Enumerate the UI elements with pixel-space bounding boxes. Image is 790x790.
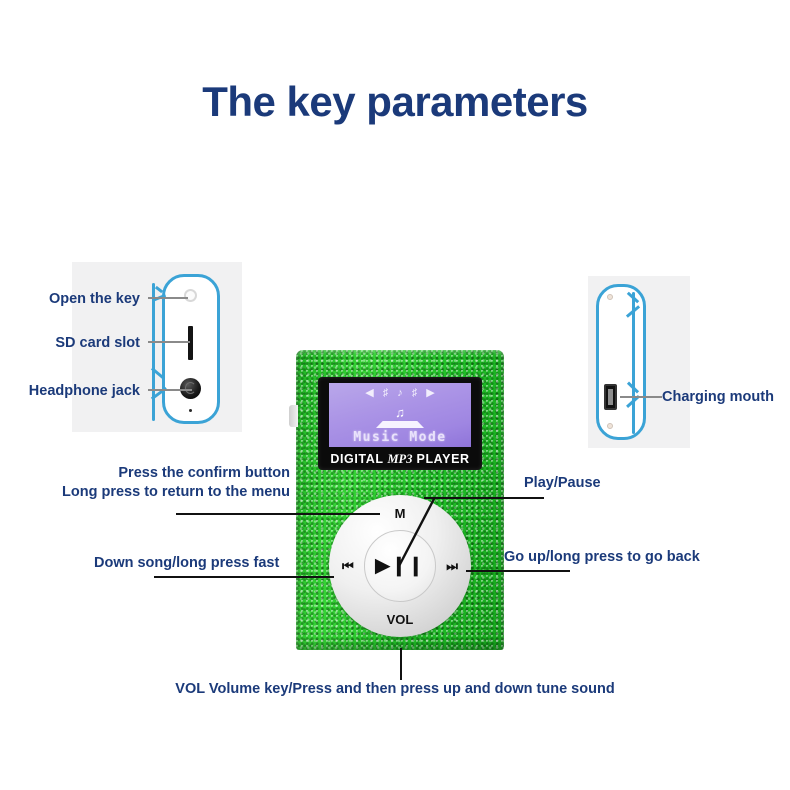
device-brand: DIGITAL MP3 PLAYER	[318, 452, 482, 467]
leader-down-song	[154, 576, 334, 578]
label-go-up: Go up/long press to go back	[504, 548, 700, 567]
brand-suffix: PLAYER	[412, 452, 469, 466]
open-key-hole-icon	[184, 289, 197, 302]
label-confirm-button-line1: Press the confirm button	[40, 464, 290, 483]
music-note-icon-small: ♪	[397, 388, 403, 399]
leader-play-pause-horizontal	[424, 497, 544, 499]
label-volume: VOL Volume key/Press and then press up a…	[0, 680, 790, 699]
prev-triangle-icon: ◀	[365, 388, 373, 399]
bracket-icon-left: ♯	[383, 388, 389, 399]
device-screen: ◀ ♯ ♪ ♯ ▶ ♫ Music Mode	[329, 383, 471, 447]
label-down-song: Down song/long press fast	[94, 554, 279, 573]
bracket-icon-right: ♯	[412, 388, 418, 399]
sketch-dot	[189, 409, 192, 412]
usb-port-icon	[604, 384, 617, 410]
leader-charging-mouth	[620, 396, 662, 398]
infographic-canvas: The key parameters Open the key SD card …	[0, 0, 790, 790]
next-track-button[interactable]: ⏭	[446, 560, 458, 573]
volume-button-label[interactable]: VOL	[387, 613, 414, 626]
screen-bezel: ◀ ♯ ♪ ♯ ▶ ♫ Music Mode DIGITAL MP3 PLAYE…	[318, 377, 482, 470]
leader-go-up	[466, 570, 570, 572]
previous-track-button[interactable]: ⏮	[342, 560, 354, 573]
label-headphone-jack: Headphone jack	[0, 382, 140, 401]
brand-prefix: DIGITAL	[330, 452, 387, 466]
next-triangle-icon: ▶	[426, 388, 434, 399]
label-charging-mouth: Charging mouth	[662, 388, 774, 407]
label-sd-card-slot: SD card slot	[0, 334, 140, 353]
leader-volume-vertical	[400, 648, 402, 680]
brand-mid: MP3	[387, 452, 412, 466]
leader-headphone-jack	[148, 389, 192, 391]
side-nub	[289, 405, 298, 427]
screen-icon-row: ◀ ♯ ♪ ♯ ▶	[329, 388, 471, 399]
leader-sd-card-slot	[148, 341, 190, 343]
screen-mode-text: Music Mode	[329, 430, 471, 445]
leader-open-the-key	[148, 297, 188, 299]
label-play-pause: Play/Pause	[524, 474, 601, 493]
sd-card-slot-icon	[188, 326, 193, 360]
screw-top-icon	[607, 294, 613, 300]
screen-plate-icon	[376, 421, 424, 428]
screw-bottom-icon	[607, 423, 613, 429]
label-open-the-key: Open the key	[0, 290, 140, 309]
leader-confirm-button	[176, 513, 380, 515]
label-confirm-button-line2: Long press to return to the menu	[40, 483, 290, 502]
leader-play-pause-diagonal	[390, 490, 440, 572]
page-title: The key parameters	[0, 78, 790, 126]
music-note-icon: ♫	[329, 406, 471, 419]
